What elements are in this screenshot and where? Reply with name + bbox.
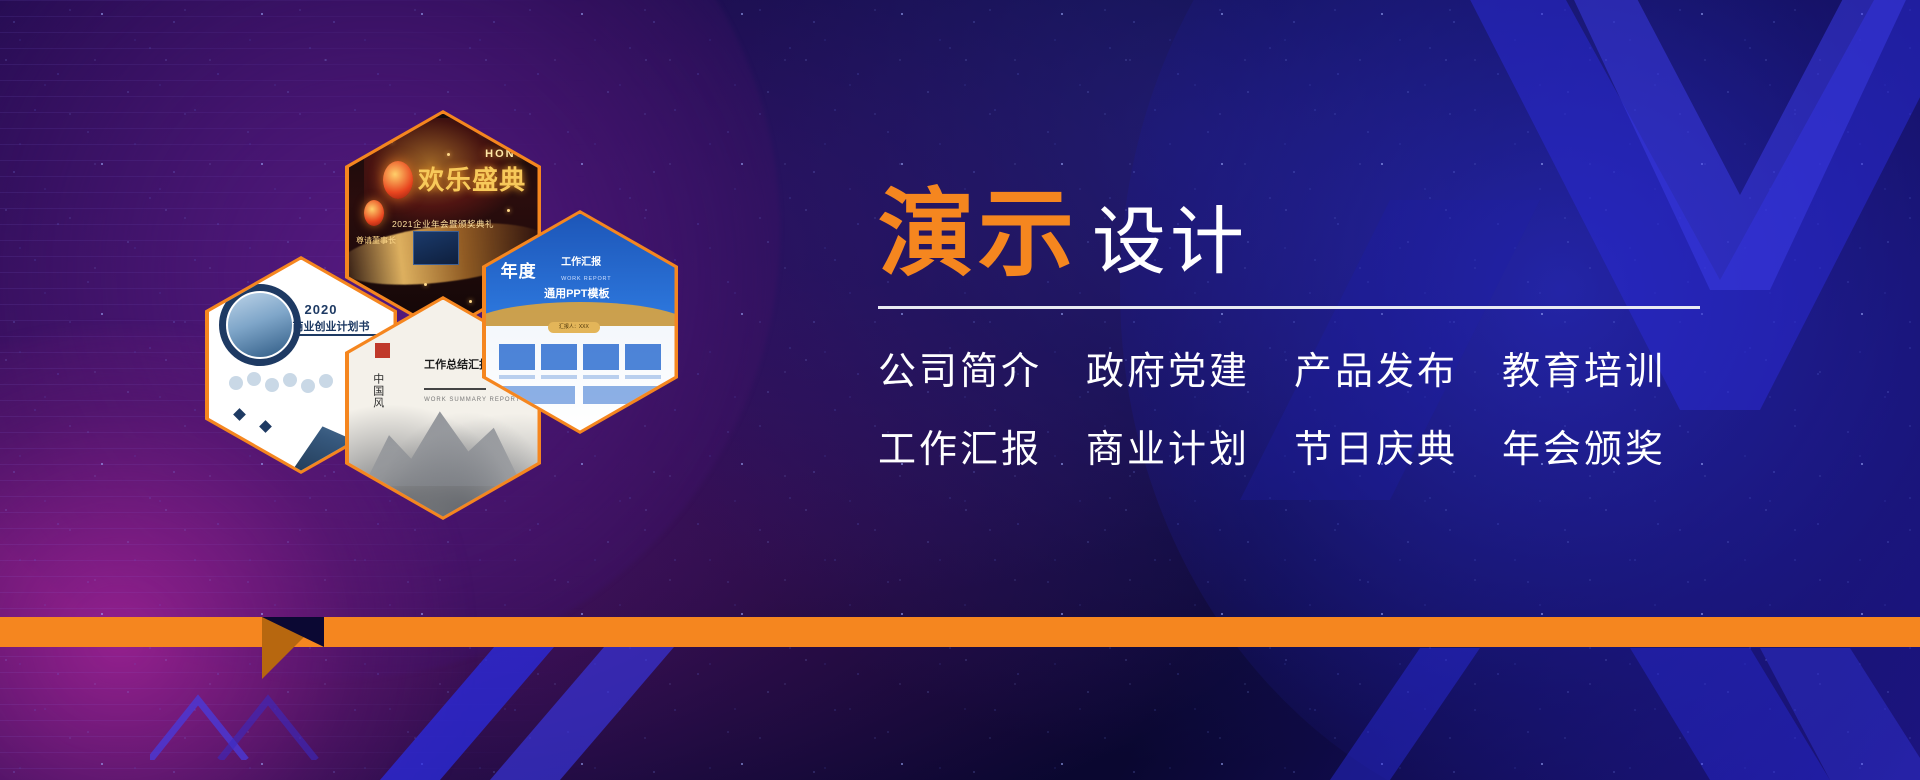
sparkle-icon xyxy=(390,140,393,143)
bubble-dots xyxy=(229,372,339,402)
category-tag-row-2: 工作汇报 商业计划 节日庆典 年会颁奖 xyxy=(878,429,1738,471)
presentation-design-banner: 2020 商业创业计划书 xyxy=(0,0,1920,780)
ink-title-en: WORK SUMMARY REPORT xyxy=(424,397,520,403)
arrow-decor xyxy=(150,690,320,765)
tag-education-training[interactable]: 教育培训 xyxy=(1502,351,1666,393)
gala-subtitle: 2021企业年会暨颁奖典礼 xyxy=(392,218,494,230)
ink-vertical-text: 中国风 xyxy=(371,373,383,409)
diamond-marker xyxy=(233,408,246,421)
tag-work-report[interactable]: 工作汇报 xyxy=(878,429,1042,471)
red-seal-icon xyxy=(375,343,390,358)
chevron-decor-bottom-left xyxy=(380,640,680,780)
tag-festival[interactable]: 节日庆典 xyxy=(1294,429,1458,471)
bottom-bar-notch xyxy=(262,617,324,647)
tag-annual-awards[interactable]: 年会颁奖 xyxy=(1502,429,1666,471)
gala-side-text: 尊请董事长 xyxy=(356,235,396,246)
category-tag-row-1: 公司简介 政府党建 产品发布 教育培训 xyxy=(878,351,1738,393)
tag-company-intro[interactable]: 公司简介 xyxy=(878,351,1042,393)
tag-product-launch[interactable]: 产品发布 xyxy=(1294,351,1458,393)
sparkle-icon xyxy=(469,300,472,303)
tag-government-party[interactable]: 政府党建 xyxy=(1086,351,1250,393)
thumb-title: 商业创业计划书 xyxy=(293,318,370,334)
thumb-underline xyxy=(293,334,389,336)
tag-business-plan[interactable]: 商业计划 xyxy=(1086,429,1250,471)
sparkle-icon xyxy=(424,283,427,286)
headline-main: 演示 xyxy=(878,186,1078,282)
gala-title-en: HONG xyxy=(418,148,526,160)
sparkle-icon xyxy=(481,131,484,134)
chevron-decor-bottom-right xyxy=(1330,648,1920,780)
ink-underline xyxy=(424,388,486,390)
lantern-icon xyxy=(364,200,384,226)
annual-year-label: 年度 xyxy=(501,257,537,282)
headline-sub: 设计 xyxy=(1092,205,1248,279)
ink-title: 工作总结汇报 xyxy=(424,356,490,372)
sparkle-icon xyxy=(447,153,450,156)
category-tags: 公司简介 政府党建 产品发布 教育培训 工作汇报 商业计划 节日庆典 年会颁奖 xyxy=(878,351,1738,471)
diamond-marker xyxy=(259,420,272,433)
annual-presenter-pill: 汇报人：XXX xyxy=(548,322,600,333)
thumb-year: 2020 xyxy=(305,302,338,317)
headline-divider xyxy=(878,306,1700,309)
annual-title-top: 工作汇报 xyxy=(561,253,601,268)
annual-title-top-en: WORK REPORT xyxy=(561,276,611,282)
gala-title: HONG 欢乐盛典 xyxy=(418,148,526,197)
annual-presenter-label: 汇报人：XXX xyxy=(548,322,600,333)
gala-card xyxy=(413,231,459,265)
template-thumbnail-cluster: 2020 商业创业计划书 xyxy=(205,110,765,510)
circle-photo xyxy=(228,293,292,357)
lantern-icon xyxy=(383,161,413,199)
headline-row: 演示 设计 xyxy=(878,186,1738,282)
headline-block: 演示 设计 公司简介 政府党建 产品发布 教育培训 工作汇报 商业计划 节日庆典… xyxy=(878,186,1738,471)
annual-title-main: 通用PPT模板 xyxy=(544,285,609,301)
